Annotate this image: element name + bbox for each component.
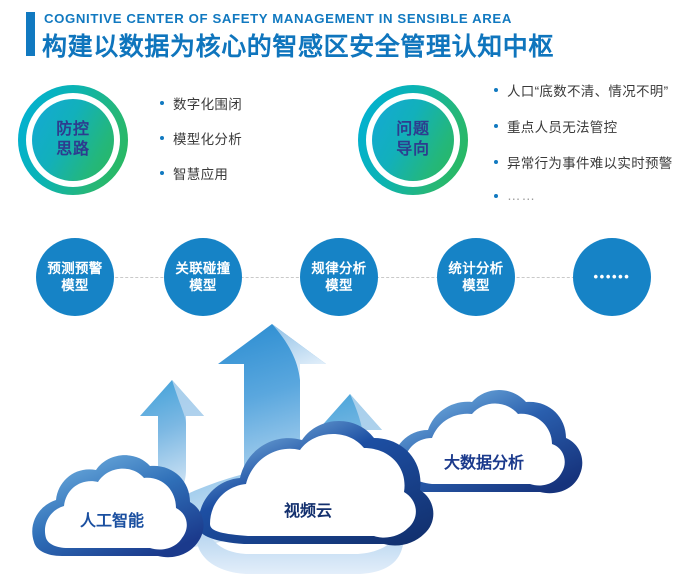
ring-inner-disc: 防控 思路 [32,99,114,181]
model-circle-more[interactable]: •••••• [573,238,651,316]
bullet-list-wenti: 人口“底数不清、情况不明” 重点人员无法管控 异常行为事件难以实时预警 …… [494,80,673,219]
ring-inner-disc: 问题 导向 [372,99,454,181]
bullet-label: …… [507,188,536,203]
bullet-label: 人口“底数不清、情况不明” [507,80,668,100]
video-cloud-label: 视频云 [284,501,332,520]
bullet-dot-icon [494,88,498,92]
model-circle-row: 预测预警 模型 关联碰撞 模型 规律分析 模型 统计分析 模型 •••••• [0,228,685,328]
model-label-line2: 模型 [325,277,353,294]
ring-label-line2: 导向 [396,140,430,160]
bullet-dot-icon [160,101,164,105]
bullet-label: 模型化分析 [173,128,242,148]
ai-cloud-label: 人工智能 [80,511,144,530]
page-title: 构建以数据为核心的智感区安全管理认知中枢 [42,27,554,63]
model-label-line1: 关联碰撞 [175,260,230,277]
bullet-dot-icon [494,194,498,198]
model-circle-guanlian[interactable]: 关联碰撞 模型 [164,238,242,316]
model-label-line1: 统计分析 [448,260,503,277]
video-cloud[interactable]: 视频云 [198,421,433,546]
bigdata-cloud-label: 大数据分析 [444,453,524,472]
list-item: 智慧应用 [160,163,242,183]
list-item: 重点人员无法管控 [494,116,673,136]
bullet-label: 数字化围闭 [173,93,242,113]
ring-label-line1: 问题 [396,120,430,140]
ring-label-line2: 思路 [56,140,90,160]
bullet-label: 智慧应用 [173,163,228,183]
title-accent-bar [26,12,35,56]
bullet-list-fangkong: 数字化围闭 模型化分析 智慧应用 [160,93,242,198]
model-label-ellipsis: •••••• [594,269,631,286]
model-label-line2: 模型 [61,277,89,294]
model-circle-yucey[interactable]: 预测预警 模型 [36,238,114,316]
list-item: 异常行为事件难以实时预警 [494,152,673,172]
ring-label-line1: 防控 [56,120,90,140]
list-item: …… [494,188,673,203]
model-label-line2: 模型 [462,277,490,294]
bullet-dot-icon [160,171,164,175]
list-item: 模型化分析 [160,128,242,148]
model-label-line1: 规律分析 [311,260,366,277]
list-item: 人口“底数不清、情况不明” [494,80,673,100]
bullet-dot-icon [160,136,164,140]
page-header: COGNITIVE CENTER OF SAFETY MANAGEMENT IN… [0,0,685,72]
cloud-arrow-diagram: 大数据分析 视频云 人工智能 [0,320,685,583]
bullet-dot-icon [494,160,498,164]
bigdata-cloud[interactable]: 大数据分析 [392,390,582,493]
bullet-dot-icon [494,124,498,128]
list-item: 数字化围闭 [160,93,242,113]
bullet-label: 异常行为事件难以实时预警 [507,152,673,172]
bullet-label: 重点人员无法管控 [507,116,617,136]
model-circle-tongji[interactable]: 统计分析 模型 [437,238,515,316]
eyebrow-title: COGNITIVE CENTER OF SAFETY MANAGEMENT IN… [44,11,512,26]
model-label-line2: 模型 [189,277,217,294]
model-label-line1: 预测预警 [47,260,102,277]
model-circle-guilv[interactable]: 规律分析 模型 [300,238,378,316]
